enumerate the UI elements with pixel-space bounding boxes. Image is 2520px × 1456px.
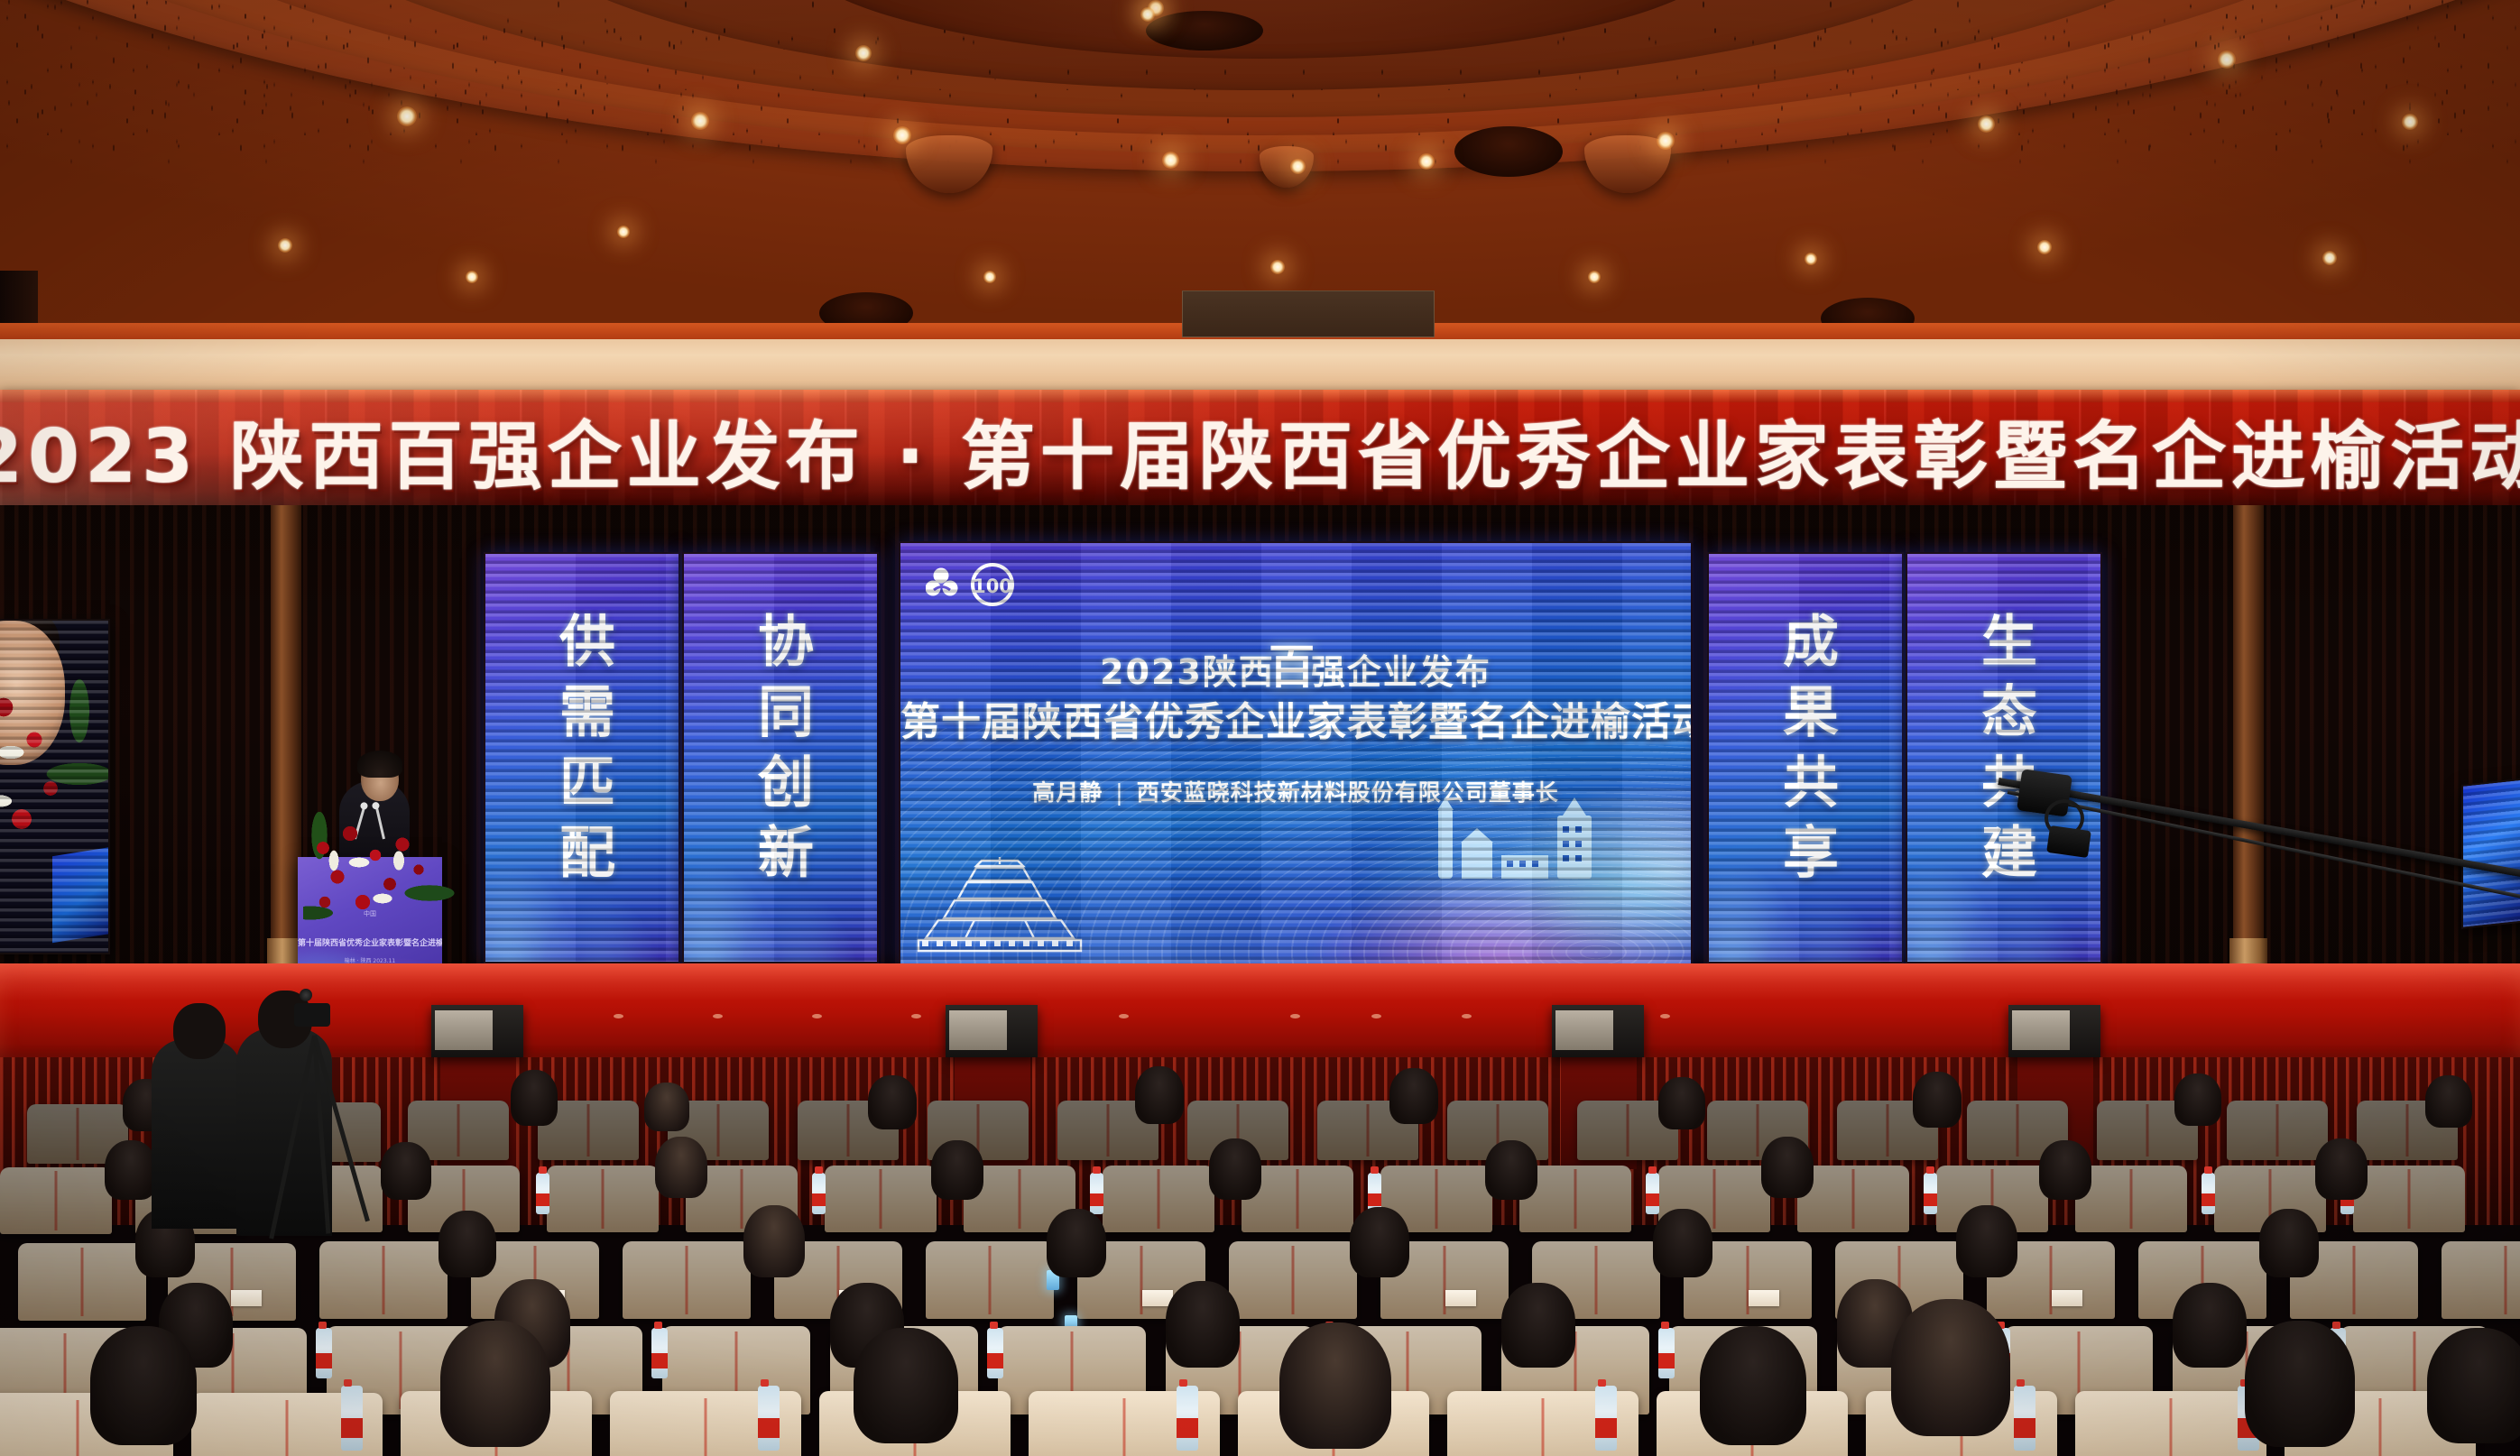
- ceiling-recess-dark-1: [1454, 126, 1563, 177]
- stage-monitor-speaker-4: [2008, 1005, 2100, 1057]
- audience-head: [1501, 1283, 1575, 1368]
- stage-floor-marker: [1290, 1014, 1300, 1018]
- audience-head: [1658, 1077, 1705, 1129]
- ceiling-downlight: [1162, 152, 1179, 169]
- wing-led-panel-right-1: 成果共享: [1707, 552, 1904, 963]
- water-bottle: [1177, 1386, 1198, 1451]
- seat: [1103, 1166, 1214, 1232]
- audience-seating: [0, 1057, 2520, 1456]
- stage-floor-marker: [911, 1014, 921, 1018]
- seat: [2227, 1101, 2328, 1160]
- stage-floor-marker: [713, 1014, 723, 1018]
- side-led-screen-left: [0, 619, 110, 954]
- camera-operator-body-1: [152, 1039, 242, 1229]
- water-bottle: [1924, 1173, 1937, 1214]
- seat: [825, 1166, 937, 1232]
- seat: [547, 1166, 659, 1232]
- water-bottle: [758, 1386, 780, 1451]
- audience-head: [2315, 1138, 2368, 1200]
- ceiling-downlight: [397, 106, 417, 126]
- ceiling-downlight: [691, 112, 709, 130]
- seat: [18, 1243, 146, 1321]
- aux-podium-corner: [52, 847, 110, 943]
- audience-head-foreground: [90, 1326, 197, 1445]
- wing-led-panel-left-2: 协同创新: [682, 552, 879, 963]
- audience-head: [2259, 1209, 2319, 1277]
- audience-head: [1209, 1138, 1261, 1200]
- wing-led-panel-left-1: 供需匹配: [484, 552, 680, 963]
- podium-flower-arrangement: [303, 812, 457, 929]
- audience-head: [1350, 1207, 1409, 1277]
- audience-head-foreground: [440, 1321, 550, 1447]
- audience-head: [1389, 1068, 1438, 1124]
- audience-head: [931, 1140, 983, 1200]
- audience-head: [438, 1211, 496, 1277]
- audience-head: [1047, 1209, 1106, 1277]
- ceiling-pendant-3: [1260, 146, 1314, 188]
- video-camera-body: [294, 1003, 330, 1027]
- event-banner: 2023 陕西百强企业发布 · 第十届陕西省优秀企业家表彰暨名企进榆活动: [0, 390, 2520, 505]
- seat-name-card: [2052, 1290, 2082, 1306]
- ceiling-downlight: [2322, 251, 2337, 265]
- water-bottle: [1595, 1386, 1617, 1451]
- audience-head: [105, 1140, 157, 1200]
- water-bottle: [1090, 1173, 1103, 1214]
- seat: [926, 1241, 1054, 1319]
- wing-led-panel-right-2: 生态共建: [1906, 552, 2102, 963]
- seat-name-card: [1749, 1290, 1779, 1306]
- audience-head: [1761, 1137, 1814, 1198]
- wing-panel-text-left-1: 供需匹配: [541, 612, 623, 893]
- seat: [2075, 1166, 2187, 1232]
- water-bottle: [1658, 1328, 1675, 1378]
- stage-floor-gloss: [0, 963, 2520, 1057]
- water-bottle: [1646, 1173, 1659, 1214]
- seat: [2353, 1166, 2465, 1232]
- audience-head-foreground: [1891, 1299, 2010, 1436]
- stage-floor-marker: [812, 1014, 822, 1018]
- seat: [1229, 1241, 1357, 1319]
- water-bottle: [536, 1173, 549, 1214]
- water-bottle: [812, 1173, 826, 1214]
- audience-head: [1913, 1072, 1962, 1128]
- seat: [319, 1241, 448, 1319]
- projection-booth-opening: [1182, 290, 1435, 337]
- main-screen-title-line1: 2023陕西百强企业发布: [900, 644, 1691, 694]
- audience-head-foreground: [1279, 1322, 1391, 1449]
- jib-camera-body: [2046, 825, 2091, 858]
- water-bottle: [987, 1328, 1003, 1378]
- water-bottle: [2014, 1386, 2035, 1451]
- stage-floor-marker: [1660, 1014, 1670, 1018]
- seat: [0, 1167, 112, 1234]
- audience-head: [2425, 1075, 2472, 1128]
- audience-head-foreground: [854, 1328, 958, 1443]
- event-logo-icon: 100: [926, 563, 1032, 608]
- ceiling-downlight: [983, 271, 996, 283]
- stage-floor-marker: [614, 1014, 623, 1018]
- stage-monitor-speaker-2: [946, 1005, 1038, 1057]
- wing-panel-text-left-2: 协同创新: [740, 612, 821, 893]
- stage-floor-marker: [1119, 1014, 1129, 1018]
- ceiling-downlight: [1140, 7, 1155, 22]
- main-led-screen: 100 2023陕西百强企业发布 第十届陕西省优秀企业家表彰暨名企进榆活动 高月…: [899, 541, 1693, 965]
- video-camera-lens: [300, 989, 312, 1001]
- water-bottle: [2202, 1173, 2215, 1214]
- speaker-name: 高月静: [1032, 779, 1103, 806]
- ceiling-downlight: [466, 271, 478, 283]
- seat-name-card: [231, 1290, 262, 1306]
- camera-operator-head-1: [173, 1003, 226, 1059]
- wood-pillar-right: [2233, 505, 2264, 992]
- ceiling-downlight: [278, 238, 292, 253]
- audience-head: [381, 1142, 431, 1200]
- side-led-screen-right: [2461, 778, 2520, 929]
- audience-head: [1653, 1209, 1712, 1277]
- stage-monitor-speaker-1: [431, 1005, 523, 1057]
- seat: [2442, 1241, 2520, 1319]
- stage-monitor-speaker-3: [1552, 1005, 1644, 1057]
- ceiling-downlight: [855, 45, 872, 61]
- ceiling-pendant-1: [906, 135, 992, 193]
- audience-head: [655, 1137, 707, 1198]
- ceiling-downlight: [1978, 115, 1995, 133]
- ceiling-downlight: [617, 226, 630, 238]
- water-bottle: [651, 1328, 668, 1378]
- city-skyline-icon: [1413, 796, 1620, 913]
- audience-head: [1485, 1140, 1537, 1200]
- audience-head: [2039, 1140, 2091, 1200]
- speaker-hair: [357, 751, 402, 778]
- ceiling-downlight: [2218, 51, 2236, 69]
- water-bottle: [341, 1386, 363, 1451]
- ceiling-downlight: [2037, 240, 2052, 254]
- audience-head: [511, 1070, 558, 1126]
- audience-head: [644, 1083, 689, 1131]
- ceiling-downlight: [1588, 271, 1601, 283]
- audience-head: [1135, 1066, 1184, 1124]
- title-suffix: 强企业发布: [1311, 652, 1491, 692]
- water-bottle: [316, 1328, 332, 1378]
- conference-hall-photo: 2023 陕西百强企业发布 · 第十届陕西省优秀企业家表彰暨名企进榆活动 供需匹…: [0, 0, 2520, 1456]
- speaker-separator: |: [1103, 779, 1136, 806]
- audience-head-foreground: [2245, 1321, 2355, 1447]
- ceiling-downlight: [2402, 114, 2418, 130]
- seat: [1797, 1166, 1909, 1232]
- stage-floor: [0, 963, 2520, 1057]
- title-highlight-bai: 百: [1269, 629, 1317, 696]
- podium-text-line2: 第十届陕西省优秀企业家表彰暨名企进榆活动: [298, 936, 442, 948]
- audience-head: [868, 1075, 917, 1129]
- seat: [623, 1241, 751, 1319]
- audience-head-foreground: [1700, 1326, 1806, 1445]
- wood-pillar-left: [271, 505, 301, 992]
- seat-name-card: [1445, 1290, 1476, 1306]
- ceiling-downlight: [1418, 153, 1435, 170]
- ceiling-downlight: [1805, 253, 1817, 265]
- logo-100-text: 100: [973, 576, 1012, 597]
- ceiling-downlight: [1270, 260, 1285, 274]
- audience-head: [2173, 1283, 2247, 1368]
- ceiling-recess-dark-4: [1146, 11, 1263, 51]
- pagoda-skyline-icon: [913, 850, 1085, 958]
- audience-head-foreground: [2427, 1328, 2520, 1443]
- audience-head: [1166, 1281, 1240, 1368]
- audience-head: [2174, 1074, 2221, 1126]
- stage-floor-marker: [1371, 1014, 1381, 1018]
- wing-panel-text-right-2: 生态共建: [1963, 612, 2045, 893]
- audience-head: [1956, 1205, 2017, 1277]
- ceiling-downlight: [893, 126, 911, 144]
- banner-title-text: 2023 陕西百强企业发布 · 第十届陕西省优秀企业家表彰暨名企进榆活动: [0, 392, 2520, 505]
- audience-head: [743, 1205, 805, 1277]
- title-prefix: 2023陕西: [1100, 652, 1275, 692]
- ceiling-downlight: [1657, 132, 1675, 150]
- stage-floor-marker: [1462, 1014, 1472, 1018]
- wing-panel-text-right-1: 成果共享: [1765, 612, 1846, 893]
- main-screen-title-line2: 第十届陕西省优秀企业家表彰暨名企进榆活动: [900, 689, 1691, 747]
- ceiling-downlight: [1290, 159, 1306, 174]
